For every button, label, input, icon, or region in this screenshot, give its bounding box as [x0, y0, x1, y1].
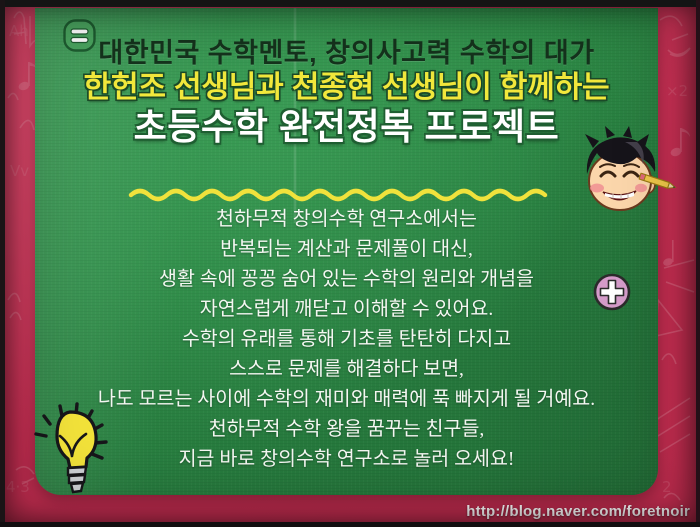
headline-line-1: 대한민국 수학멘토, 창의사고력 수학의 대가 — [35, 40, 658, 68]
body-line: 지금 바로 창의수학 연구소로 놀러 오세요! — [35, 450, 658, 470]
watermark-url: http://blog.naver.com/foretnoir — [466, 503, 690, 520]
svg-text:Ah: Ah — [9, 22, 29, 40]
body-line: 수학의 유래를 통해 기초를 탄탄히 다지고 — [35, 330, 658, 350]
body-line: 천하무적 수학 왕을 꿈꾸는 친구들, — [35, 420, 658, 440]
wavy-underline-icon — [35, 186, 658, 202]
lightbulb-icon — [32, 398, 116, 498]
headline-block: 대한민국 수학멘토, 창의사고력 수학의 대가 한헌조 선생님과 천종현 선생님… — [35, 40, 658, 146]
svg-text:2: 2 — [662, 478, 672, 496]
svg-text:4·3: 4·3 — [6, 478, 30, 496]
plus-badge-icon — [592, 272, 632, 312]
cartoon-boy-face — [573, 126, 677, 222]
body-line: 반복되는 계산과 문제풀이 대신, — [35, 240, 658, 260]
body-line: 스스로 문제를 해결하다 보면, — [35, 360, 658, 380]
photo-edge-left — [0, 0, 5, 527]
body-line: 천하무적 창의수학 연구소에서는 — [35, 210, 658, 230]
photo-edge-right — [696, 0, 700, 527]
photo-edge-top — [0, 0, 700, 7]
headline-line-2: 한헌조 선생님과 천종현 선생님이 함께하는 — [35, 73, 658, 104]
body-paragraph: 천하무적 창의수학 연구소에서는 반복되는 계산과 문제풀이 대신, 생활 속에… — [35, 210, 658, 480]
body-line: 자연스럽게 깨닫고 이해할 수 있어요. — [35, 300, 658, 320]
headline-line-3: 초등수학 완전정복 프로젝트 — [35, 109, 658, 146]
photo-edge-bottom — [0, 522, 700, 527]
body-line: 생활 속에 꽁꽁 숨어 있는 수학의 원리와 개념을 — [35, 270, 658, 290]
equals-badge-icon — [63, 19, 96, 52]
poster-photo: Ah Vv ×2 2 4·3 대한민국 수학멘토, 창의사고력 수학의 대가 한… — [0, 0, 700, 527]
svg-text:×2: ×2 — [666, 82, 688, 100]
body-line: 나도 모르는 사이에 수학의 재미와 매력에 푹 빠지게 될 거예요. — [35, 390, 658, 410]
svg-text:Vv: Vv — [10, 162, 29, 180]
